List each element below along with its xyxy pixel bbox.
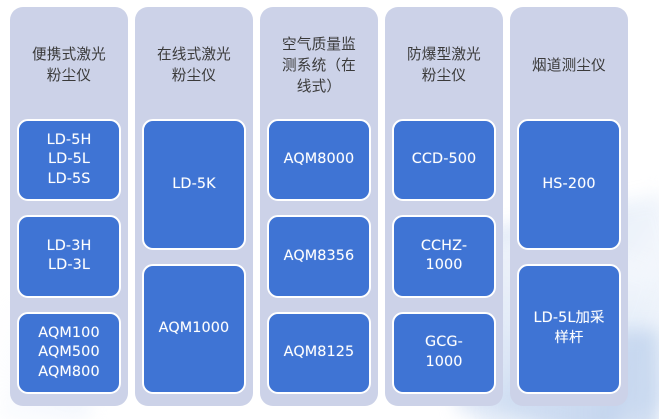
product-category-board: 便携式激光 粉尘仪LD-5H LD-5L LD-5SLD-3H LD-3LAQM… — [0, 0, 659, 419]
product-chip[interactable]: AQM8125 — [267, 312, 371, 394]
product-chip-stack: CCD-500CCHZ- 1000GCG- 1000 — [392, 119, 496, 394]
product-chip[interactable]: CCHZ- 1000 — [392, 215, 496, 297]
category-column: 空气质量监 测系统（在 线式）AQM8000AQM8356AQM8125 — [260, 7, 378, 406]
product-chip[interactable]: AQM8000 — [267, 119, 371, 201]
product-chip[interactable]: LD-5H LD-5L LD-5S — [17, 119, 121, 201]
category-title: 在线式激光 粉尘仪 — [142, 7, 246, 119]
category-title: 烟道测尘仪 — [517, 7, 621, 119]
product-chip[interactable]: LD-3H LD-3L — [17, 215, 121, 297]
product-chip[interactable]: HS-200 — [517, 119, 621, 250]
category-title: 防爆型激光 粉尘仪 — [392, 7, 496, 119]
product-chip[interactable]: CCD-500 — [392, 119, 496, 201]
category-column: 便携式激光 粉尘仪LD-5H LD-5L LD-5SLD-3H LD-3LAQM… — [10, 7, 128, 406]
category-column: 防爆型激光 粉尘仪CCD-500CCHZ- 1000GCG- 1000 — [385, 7, 503, 406]
product-chip[interactable]: AQM1000 — [142, 264, 246, 395]
product-chip-stack: AQM8000AQM8356AQM8125 — [267, 119, 371, 394]
product-chip[interactable]: LD-5L加采 样杆 — [517, 264, 621, 395]
product-chip[interactable]: AQM8356 — [267, 215, 371, 297]
product-chip-stack: LD-5H LD-5L LD-5SLD-3H LD-3LAQM100 AQM50… — [17, 119, 121, 394]
product-chip-stack: LD-5KAQM1000 — [142, 119, 246, 394]
product-chip[interactable]: LD-5K — [142, 119, 246, 250]
category-title: 空气质量监 测系统（在 线式） — [267, 7, 371, 119]
category-column: 烟道测尘仪HS-200LD-5L加采 样杆 — [510, 7, 628, 406]
category-column: 在线式激光 粉尘仪LD-5KAQM1000 — [135, 7, 253, 406]
product-chip[interactable]: AQM100 AQM500 AQM800 — [17, 312, 121, 394]
product-chip-stack: HS-200LD-5L加采 样杆 — [517, 119, 621, 394]
product-chip[interactable]: GCG- 1000 — [392, 312, 496, 394]
category-title: 便携式激光 粉尘仪 — [17, 7, 121, 119]
